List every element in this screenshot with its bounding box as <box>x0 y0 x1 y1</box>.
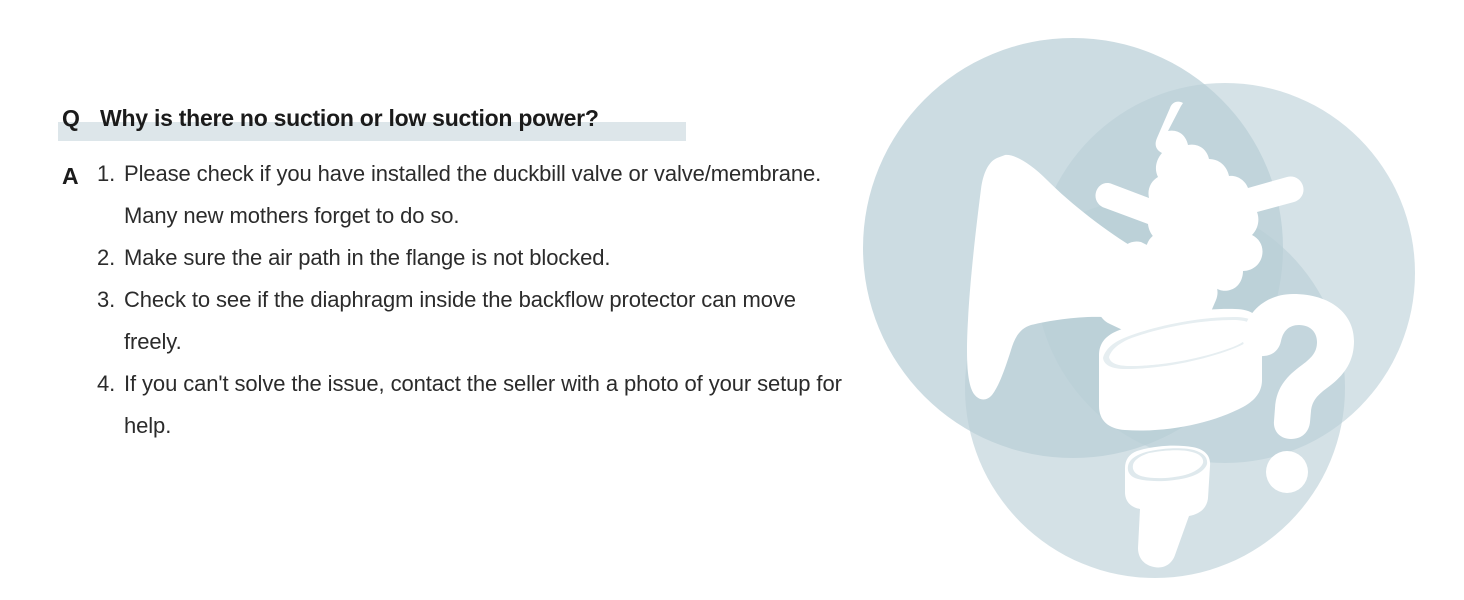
answer-list: 1. Please check if you have installed th… <box>97 153 857 447</box>
answer-marker: A <box>62 155 79 197</box>
question-marker: Q <box>62 104 80 132</box>
list-item-number: 2. <box>97 237 115 279</box>
list-item-number: 4. <box>97 363 115 405</box>
list-item-text: Please check if you have installed the d… <box>124 153 857 237</box>
list-item-number: 1. <box>97 153 115 195</box>
list-item-text: If you can't solve the issue, contact th… <box>124 363 857 447</box>
list-item: 1. Please check if you have installed th… <box>97 153 857 237</box>
list-item: 2. Make sure the air path in the flange … <box>97 237 857 279</box>
breast-pump-illustration <box>855 28 1435 588</box>
question-mark-dot <box>1266 451 1308 493</box>
list-item-text: Check to see if the diaphragm inside the… <box>124 279 857 363</box>
faq-page: Q Why is there no suction or low suction… <box>0 0 1464 600</box>
list-item-text: Make sure the air path in the flange is … <box>124 237 857 279</box>
list-item: 3. Check to see if the diaphragm inside … <box>97 279 857 363</box>
faq-block: Q Why is there no suction or low suction… <box>58 104 828 138</box>
list-item: 4. If you can't solve the issue, contact… <box>97 363 857 447</box>
illustration-svg <box>855 28 1435 588</box>
question-row: Q Why is there no suction or low suction… <box>58 104 828 138</box>
list-item-number: 3. <box>97 279 115 321</box>
question-text: Why is there no suction or low suction p… <box>100 104 599 132</box>
